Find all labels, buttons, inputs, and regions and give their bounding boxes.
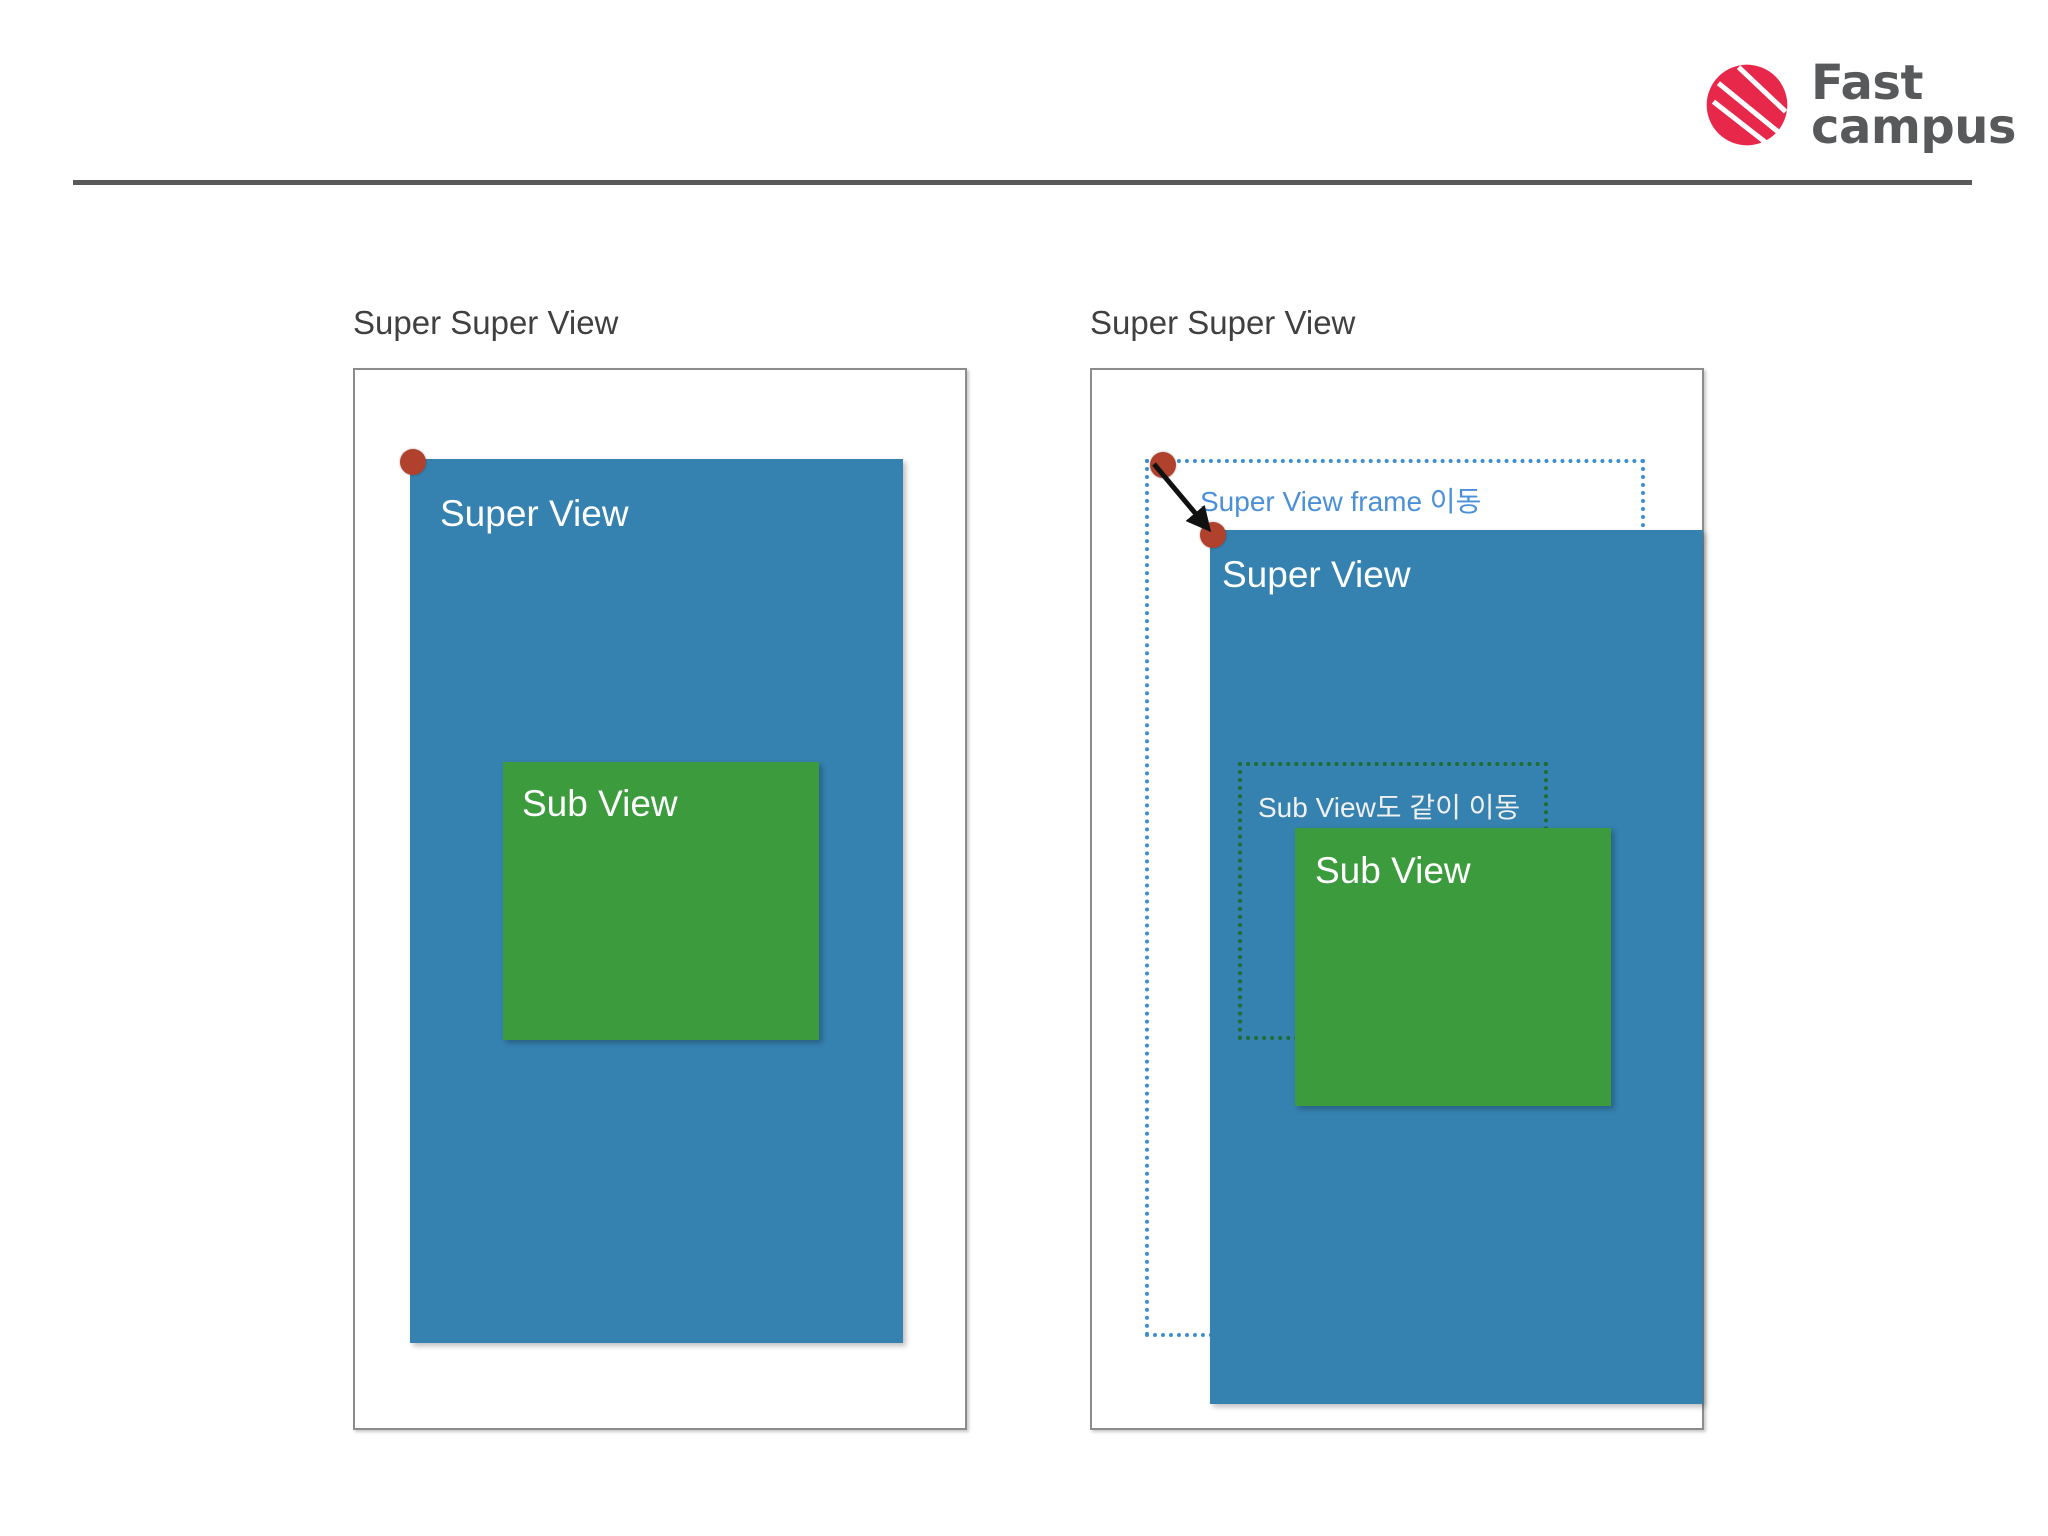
sub-view-follows-note: Sub View도 같이 이동 <box>1258 786 1520 826</box>
left-super-view-origin-dot <box>400 449 426 475</box>
brand-logo: Fast campus <box>1705 60 2005 150</box>
brand-wordmark: Fast campus <box>1811 61 2016 149</box>
header-divider <box>73 180 1972 185</box>
left-super-view-label: Super View <box>440 493 629 535</box>
left-panel-caption: Super Super View <box>353 304 618 342</box>
move-arrow-icon <box>1130 450 1270 580</box>
left-sub-view-label: Sub View <box>522 783 678 825</box>
brand-word-line2: campus <box>1811 105 2016 149</box>
fastcampus-slash-circle-icon <box>1705 63 1789 147</box>
right-panel-caption: Super Super View <box>1090 304 1355 342</box>
right-sub-view-label: Sub View <box>1315 850 1471 892</box>
